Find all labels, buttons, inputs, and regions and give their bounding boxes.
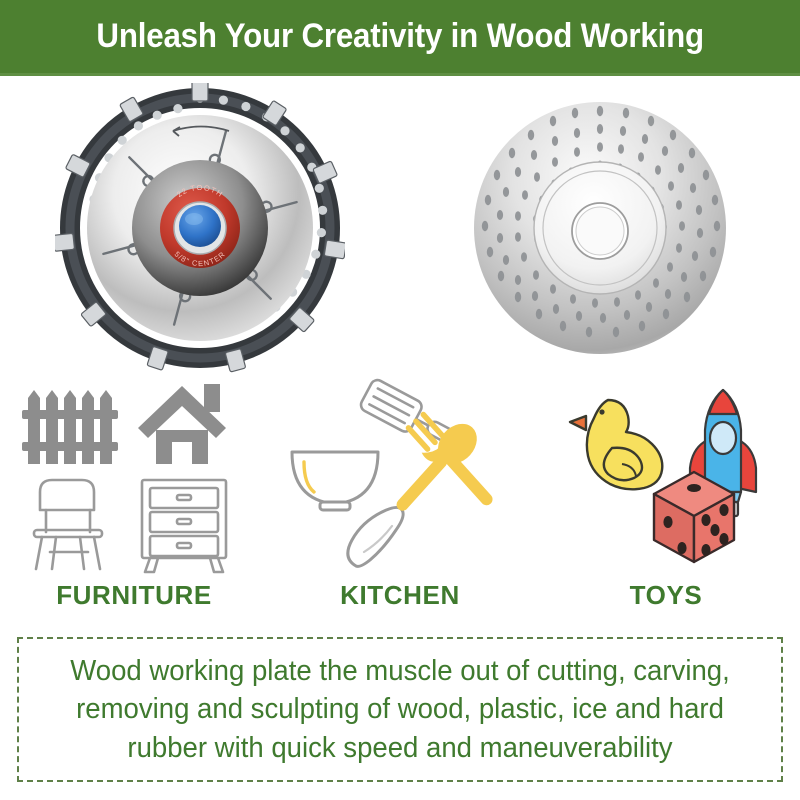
dresser-icon [142,480,226,572]
header-banner: Unleash Your Creativity in Wood Working [0,0,800,76]
category-kitchen: KITCHEN [267,376,533,641]
category-label-furniture: FURNITURE [56,580,212,611]
duck-icon [570,400,662,489]
product-image-carbide-grinding-wheel [455,83,745,373]
product-image-chain-saw-disc: 22 TOOTH 5/8" CENTER [55,83,345,373]
grinding-wheel-illustration [455,83,745,373]
product-image-row: 22 TOOTH 5/8" CENTER [0,76,800,376]
disc-arbor-cap [179,205,221,247]
furniture-icon-group [14,376,254,576]
category-toys: TOYS [533,376,799,641]
kitchen-icons-svg [280,376,520,576]
house-icon [138,384,226,464]
toys-icons-svg [546,376,786,576]
description-box: Wood working plate the muscle out of cut… [17,637,783,782]
bowl-icon [292,452,378,510]
category-furniture: FURNITURE [1,376,267,641]
chair-icon [34,480,102,569]
chain-saw-disc-illustration: 22 TOOTH 5/8" CENTER [55,83,345,373]
spoon-fork-icon [386,407,504,520]
fence-icon [22,390,118,464]
category-label-toys: TOYS [630,580,703,611]
furniture-icons-svg [14,376,254,576]
category-row: FURNITURE [0,376,800,641]
toys-icon-group [546,376,786,576]
kitchen-icon-group [280,376,520,576]
arbor-highlight [185,213,203,225]
wheel-arbor-inner [576,207,624,255]
category-label-kitchen: KITCHEN [340,580,460,611]
ladle-icon [348,507,403,566]
page-title: Unleash Your Creativity in Wood Working [96,17,704,56]
description-text: Wood working plate the muscle out of cut… [38,652,762,768]
